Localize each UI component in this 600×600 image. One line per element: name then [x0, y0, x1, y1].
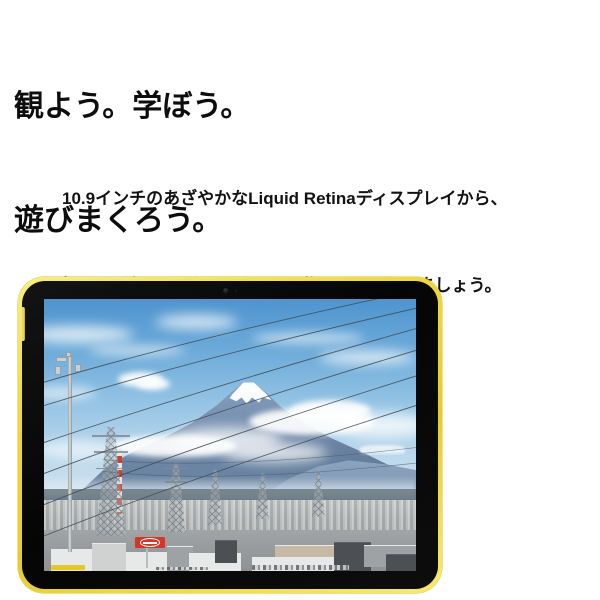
cloud: [252, 332, 364, 344]
cell-tower-antenna: [66, 352, 71, 357]
tablet-device: [18, 277, 442, 593]
sign-logo-icon: [140, 538, 160, 547]
headline-line-1: 観よう。学ぼう。: [14, 88, 250, 126]
building: [386, 554, 416, 571]
pylon-crossarm: [163, 468, 189, 470]
cell-tower-antenna: [55, 366, 61, 375]
cloud: [44, 326, 133, 342]
cloud-bank: [223, 443, 327, 462]
roadside-sign: [135, 537, 165, 548]
building: [92, 543, 125, 571]
page-root: { "page": { "background_color": "#ffffff…: [0, 0, 600, 600]
pylon-crossarm: [96, 468, 126, 470]
pylon-crossarm: [94, 451, 127, 453]
yellow-vehicle: [51, 565, 84, 570]
cell-tower-antenna: [56, 357, 67, 362]
front-camera-icon: [215, 287, 245, 295]
tablet-bezel: [22, 281, 438, 589]
cloud: [319, 351, 416, 365]
body-line-1: 10.9インチのあざやかなLiquid Retinaディスプレイから、: [62, 184, 508, 213]
parked-cars: [156, 567, 208, 571]
cloud: [156, 315, 238, 329]
camera-lens-icon: [223, 288, 229, 294]
building: [215, 540, 237, 562]
pylon-crossarm: [165, 481, 187, 483]
cell-tower-mast: [68, 356, 72, 552]
wallpaper-photo: [44, 299, 416, 571]
pylon-crossarm: [92, 435, 129, 437]
right-ridge-snow: [360, 445, 405, 454]
tablet-screen: [44, 299, 416, 571]
parked-cars: [252, 565, 349, 570]
cloud-bank: [334, 413, 416, 437]
ambient-sensor-icon: [235, 290, 238, 293]
power-button-icon: [22, 307, 25, 341]
cell-tower-antenna: [75, 364, 81, 372]
